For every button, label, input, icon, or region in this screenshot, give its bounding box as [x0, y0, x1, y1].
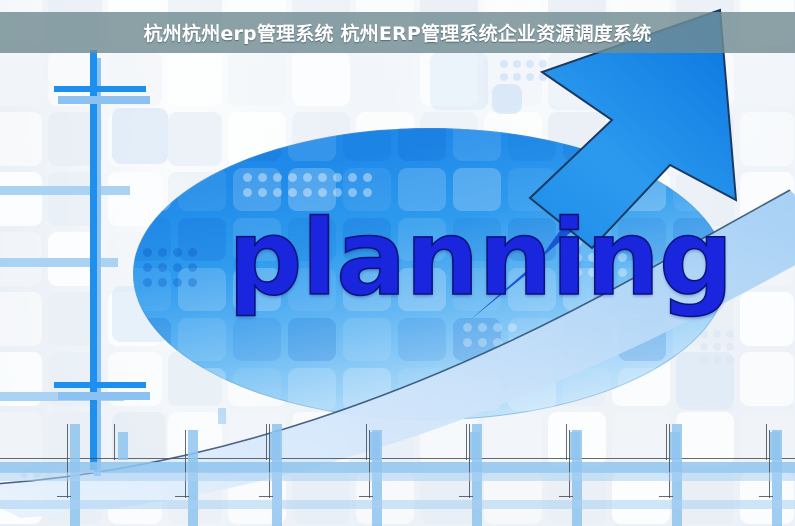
ellipse-tile: [398, 128, 446, 161]
stub-hairline: [466, 424, 467, 460]
background-dot: [33, 483, 41, 491]
column-foot-tick: [759, 496, 773, 497]
ellipse-tile: [398, 318, 446, 361]
background-tile: [292, 52, 350, 106]
ellipse-tile: [288, 418, 336, 420]
ellipse-tile: [398, 368, 446, 411]
ellipse-dot: [363, 173, 372, 182]
ellipse-tile: [133, 368, 171, 411]
ellipse-tile: [233, 128, 281, 161]
ellipse-tile: [563, 368, 611, 411]
background-tile: [0, 292, 42, 346]
ellipse-dot: [173, 278, 182, 287]
background-dot: [20, 483, 28, 491]
ellipse-tile: [178, 128, 226, 161]
ellipse-tile: [343, 128, 391, 161]
ellipse-dot: [288, 173, 297, 182]
ellipse-dot: [333, 188, 342, 197]
ellipse-dot: [508, 338, 517, 347]
ellipse-dot: [303, 173, 312, 182]
column-foot-tick: [57, 496, 71, 497]
ellipse-tile: [343, 418, 391, 420]
axis-tick-shadow: [58, 392, 150, 400]
ellipse-tile: [178, 268, 226, 311]
ellipse-dot: [363, 188, 372, 197]
ellipse-dot: [158, 278, 167, 287]
ellipse-dot: [463, 338, 472, 347]
ellipse-tile: [288, 128, 336, 161]
chart-axis-vertical: [90, 50, 97, 470]
ellipse-tile: [133, 128, 171, 161]
background-tile: [0, 112, 42, 166]
background-tile: [168, 52, 222, 106]
banner-title: 杭州杭州erp管理系统 杭州ERP管理系统企业资源调度系统: [144, 19, 652, 46]
ellipse-dot: [478, 338, 487, 347]
background-tile: [740, 352, 794, 406]
ellipse-dot: [463, 323, 472, 332]
column-foot-tick: [559, 496, 573, 497]
ellipse-dot: [188, 248, 197, 257]
ellipse-dot: [348, 173, 357, 182]
background-tile: [0, 52, 42, 106]
ellipse-tile: [673, 418, 721, 420]
background-tile: [228, 52, 286, 106]
title-banner: 杭州杭州erp管理系统 杭州ERP管理系统企业资源调度系统: [0, 12, 795, 53]
background-dot: [726, 356, 734, 364]
bottom-stub: [270, 432, 280, 460]
bottom-stub: [118, 432, 128, 460]
ellipse-tile: [398, 418, 446, 420]
ellipse-tile: [133, 318, 171, 361]
ellipse-dot: [173, 263, 182, 272]
ellipse-tile: [343, 318, 391, 361]
ellipse-tile: [288, 318, 336, 361]
ellipse-dot: [493, 338, 502, 347]
ellipse-tile: [508, 418, 556, 420]
ellipse-tile: [618, 368, 666, 411]
ellipse-tile: [178, 168, 226, 211]
ellipse-dot: [143, 263, 152, 272]
background-dot: [46, 483, 54, 491]
ellipse-tile: [288, 368, 336, 411]
axis-tick-shadow: [58, 96, 150, 104]
bottom-stub: [218, 408, 226, 424]
ellipse-dot: [143, 278, 152, 287]
stub-hairline: [114, 424, 115, 460]
ellipse-tile: [178, 218, 226, 261]
background-tile: [740, 292, 794, 346]
ellipse-tile: [178, 368, 226, 411]
bottom-stub: [570, 432, 580, 460]
stub-hairline: [366, 424, 367, 460]
column-hairline: [67, 424, 68, 498]
bottom-stub: [470, 432, 480, 460]
ellipse-tile: [133, 268, 171, 311]
ellipse-tile: [618, 418, 666, 420]
bottom-stub: [670, 432, 680, 460]
stub-hairline: [566, 424, 567, 460]
bottom-stub: [770, 432, 780, 460]
ellipse-tile: [563, 418, 611, 420]
ellipse-dot: [158, 248, 167, 257]
planning-wordmark: planning: [228, 206, 732, 310]
banner-image: planning 杭州杭州erp管理系统 杭州ERP管理系统企业资源调度系统: [0, 0, 795, 526]
ellipse-dot: [243, 188, 252, 197]
rail-bar: [0, 186, 130, 195]
axis-tick: [54, 86, 146, 92]
ellipse-dot: [493, 323, 502, 332]
bottom-stub: [370, 432, 380, 460]
ellipse-tile: [508, 368, 556, 411]
bottom-rail: [0, 472, 795, 481]
ellipse-tile: [233, 368, 281, 411]
ellipse-tile: [343, 368, 391, 411]
ellipse-dot: [348, 188, 357, 197]
ellipse-dot: [318, 188, 327, 197]
axis-tick: [54, 382, 146, 388]
stub-hairline: [666, 424, 667, 460]
background-tile: [0, 172, 42, 226]
stub-hairline: [766, 424, 767, 460]
ellipse-tile: [673, 318, 721, 361]
ellipse-dot: [188, 263, 197, 272]
background-tile: [356, 52, 414, 106]
ellipse-dot: [273, 188, 282, 197]
ellipse-dot: [258, 173, 267, 182]
ellipse-dot: [508, 323, 517, 332]
ellipse-tile: [673, 368, 721, 411]
ellipse-dot: [258, 188, 267, 197]
ellipse-dot: [478, 323, 487, 332]
background-dot: [726, 343, 734, 351]
ellipse-dot: [288, 188, 297, 197]
ellipse-dot: [188, 278, 197, 287]
ellipse-tile: [233, 318, 281, 361]
ellipse-dot: [333, 173, 342, 182]
column-foot-tick: [659, 496, 673, 497]
ellipse-tile: [563, 318, 611, 361]
column-foot-tick: [175, 496, 189, 497]
ellipse-dot: [173, 248, 182, 257]
column-foot-tick: [359, 496, 373, 497]
ellipse-dot: [303, 188, 312, 197]
ellipse-dot: [243, 173, 252, 182]
ellipse-dot: [143, 248, 152, 257]
ellipse-tile: [618, 318, 666, 361]
ellipse-tile: [133, 418, 171, 420]
bottom-rail: [0, 500, 795, 509]
ellipse-tile: [453, 368, 501, 411]
ellipse-tile: [178, 318, 226, 361]
ellipse-tile: [133, 168, 171, 211]
column-foot-tick: [259, 496, 273, 497]
ellipse-tile: [453, 418, 501, 420]
column-foot-tick: [459, 496, 473, 497]
stub-hairline: [266, 424, 267, 460]
ellipse-dot: [273, 173, 282, 182]
ellipse-dot: [318, 173, 327, 182]
background-dot: [726, 330, 734, 338]
ellipse-dot: [158, 263, 167, 272]
ellipse-tile: [233, 418, 281, 420]
column-hairline: [185, 430, 186, 498]
